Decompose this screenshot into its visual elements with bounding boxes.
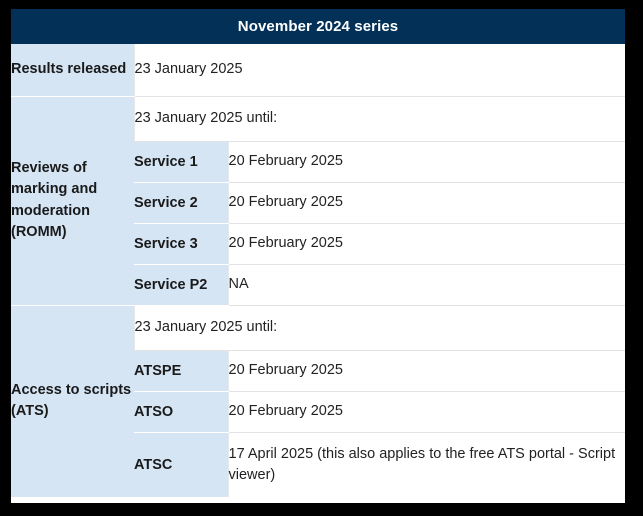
- series-title: November 2024 series: [11, 9, 625, 44]
- sublabel-atso: ATSO: [134, 391, 228, 432]
- section-label-romm: Reviews of marking and moderation (ROMM): [11, 96, 134, 305]
- value-service-p2: NA: [228, 264, 625, 305]
- section-label-ats: Access to scripts (ATS): [11, 305, 134, 497]
- value-atspe: 20 February 2025: [228, 350, 625, 391]
- value-service-1: 20 February 2025: [228, 141, 625, 182]
- value-ats-window-start: 23 January 2025 until:: [134, 305, 625, 350]
- sublabel-service-1: Service 1: [134, 141, 228, 182]
- screenshot-root: November 2024 series Results released 23…: [0, 0, 643, 516]
- table-header-row: November 2024 series: [11, 9, 625, 44]
- sublabel-service-2: Service 2: [134, 182, 228, 223]
- document-panel: November 2024 series Results released 23…: [11, 9, 625, 503]
- value-service-3: 20 February 2025: [228, 223, 625, 264]
- value-service-2: 20 February 2025: [228, 182, 625, 223]
- sublabel-service-3: Service 3: [134, 223, 228, 264]
- table-row: Access to scripts (ATS) 23 January 2025 …: [11, 305, 625, 350]
- sublabel-service-p2: Service P2: [134, 264, 228, 305]
- table-row: Reviews of marking and moderation (ROMM)…: [11, 96, 625, 141]
- sublabel-atsc: ATSC: [134, 432, 228, 497]
- value-atso: 20 February 2025: [228, 391, 625, 432]
- value-results-released-date: 23 January 2025: [134, 44, 625, 96]
- table-row: Results released 23 January 2025: [11, 44, 625, 96]
- value-atsc: 17 April 2025 (this also applies to the …: [228, 432, 625, 497]
- section-label-results-released: Results released: [11, 44, 134, 96]
- sublabel-atspe: ATSPE: [134, 350, 228, 391]
- exam-schedule-table: November 2024 series Results released 23…: [11, 9, 625, 497]
- value-romm-window-start: 23 January 2025 until:: [134, 96, 625, 141]
